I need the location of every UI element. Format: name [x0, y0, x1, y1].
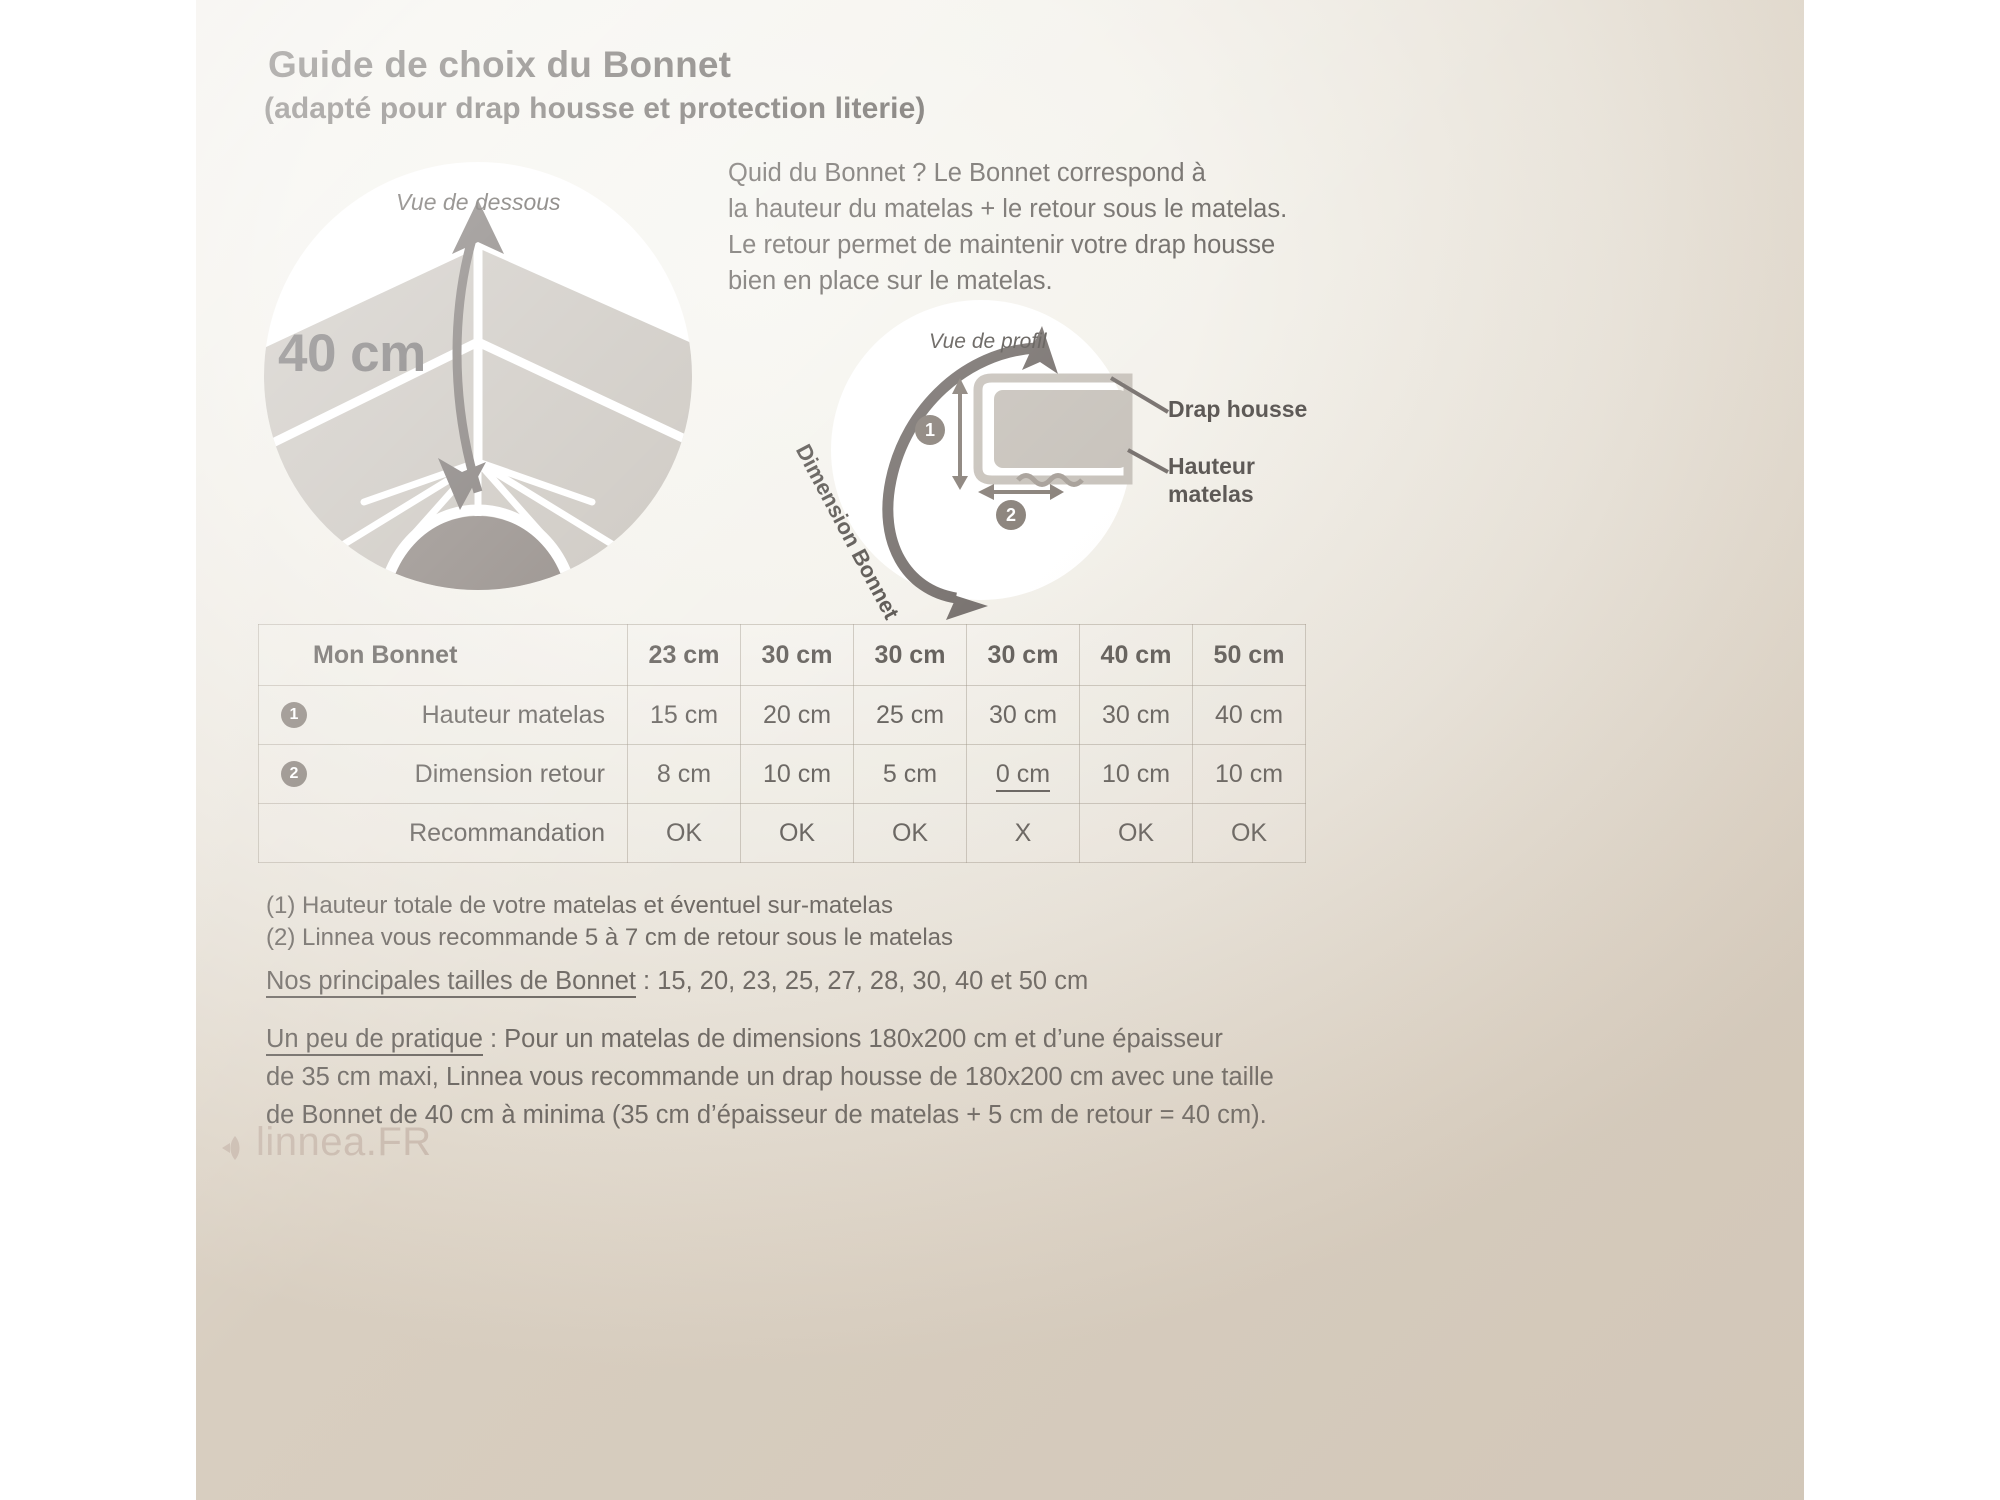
- linnea-logo-text: linnea.FR: [256, 1120, 432, 1165]
- pratique-block: Un peu de pratique : Pour un matelas de …: [266, 1020, 1506, 1134]
- callout-drap-housse: Drap housse: [1168, 395, 1307, 423]
- tailles-line: Nos principales tailles de Bonnet : 15, …: [266, 962, 1506, 1000]
- badge-2-profile: 2: [996, 500, 1026, 530]
- cell-r2-c5: OK: [1193, 804, 1306, 863]
- footnote-1: (1) Hauteur totale de votre matelas et é…: [266, 890, 1466, 922]
- retour-dimension-arrow: [978, 484, 1064, 500]
- cell-r1-c1: 10 cm: [741, 745, 854, 804]
- pratique-line-1: Un peu de pratique : Pour un matelas de …: [266, 1020, 1506, 1058]
- row-label-hauteur-matelas: 1 Hauteur matelas: [259, 686, 628, 745]
- profile-view-label: Vue de profil: [929, 330, 1047, 354]
- table-row: Recommandation OK OK OK X OK OK: [259, 804, 1306, 863]
- intro-line-1: Quid du Bonnet ? Le Bonnet correspond à: [728, 155, 1348, 191]
- table-header-cell-3: 30 cm: [854, 625, 967, 686]
- bonnet-table-wrapper: Mon Bonnet 23 cm 30 cm 30 cm 30 cm 40 cm…: [258, 624, 1306, 863]
- tailles-block: Nos principales tailles de Bonnet : 15, …: [266, 962, 1506, 1000]
- cell-r0-c2: 25 cm: [854, 686, 967, 745]
- badge-2-table: 2: [281, 761, 307, 787]
- pratique-line-2: de 35 cm maxi, Linnea vous recommande un…: [266, 1058, 1506, 1096]
- table-header-cell-0: Mon Bonnet: [259, 625, 628, 686]
- cell-r2-c2: OK: [854, 804, 967, 863]
- cell-r0-c0: 15 cm: [628, 686, 741, 745]
- cell-r2-c3-flagged: X: [967, 804, 1080, 863]
- pratique-line-1-rest: : Pour un matelas de dimensions 180x200 …: [483, 1025, 1223, 1053]
- table-head: Mon Bonnet 23 cm 30 cm 30 cm 30 cm 40 cm…: [259, 625, 1306, 686]
- bonnet-measure-value: 40 cm: [278, 323, 426, 384]
- callout-hauteur-line-2: matelas: [1168, 480, 1255, 508]
- table-header-cell-2: 30 cm: [741, 625, 854, 686]
- footnotes: (1) Hauteur totale de votre matelas et é…: [266, 890, 1466, 954]
- tailles-heading: Nos principales tailles de Bonnet: [266, 967, 636, 998]
- linnea-leaf-icon: [220, 1128, 246, 1158]
- tailles-rest: : 15, 20, 23, 25, 27, 28, 30, 40 et 50 c…: [636, 967, 1088, 995]
- row-label-text: Hauteur matelas: [422, 701, 605, 729]
- cell-r0-c5: 40 cm: [1193, 686, 1306, 745]
- intro-paragraph: Quid du Bonnet ? Le Bonnet correspond à …: [728, 155, 1348, 299]
- page-canvas: Guide de choix du Bonnet (adapté pour dr…: [0, 0, 2000, 1500]
- row-label-text: Recommandation: [409, 819, 605, 847]
- cell-r2-c0: OK: [628, 804, 741, 863]
- badge-1-table: 1: [281, 702, 307, 728]
- row-label-dimension-retour: 2 Dimension retour: [259, 745, 628, 804]
- cell-r2-c1: OK: [741, 804, 854, 863]
- table-header-row: Mon Bonnet 23 cm 30 cm 30 cm 30 cm 40 cm…: [259, 625, 1306, 686]
- intro-line-3: Le retour permet de maintenir votre drap…: [728, 227, 1348, 263]
- table-row: 1 Hauteur matelas 15 cm 20 cm 25 cm 30 c…: [259, 686, 1306, 745]
- cell-r1-c3: 0 cm: [967, 745, 1080, 804]
- row-label-text: Dimension retour: [415, 760, 605, 788]
- cell-r0-c1: 20 cm: [741, 686, 854, 745]
- cell-r0-c4: 30 cm: [1080, 686, 1193, 745]
- cell-r1-c0: 8 cm: [628, 745, 741, 804]
- mattress-height-arrow: [952, 378, 968, 490]
- cell-r1-c2: 5 cm: [854, 745, 967, 804]
- cell-r2-c4: OK: [1080, 804, 1193, 863]
- cell-r0-c3: 30 cm: [967, 686, 1080, 745]
- linnea-logo[interactable]: linnea.FR: [220, 1120, 432, 1165]
- bonnet-table: Mon Bonnet 23 cm 30 cm 30 cm 30 cm 40 cm…: [258, 624, 1306, 863]
- infographic-artboard: Guide de choix du Bonnet (adapté pour dr…: [196, 0, 1804, 1500]
- pratique-line-3: de Bonnet de 40 cm à minima (35 cm d’épa…: [266, 1096, 1506, 1134]
- callout-hauteur-line-1: Hauteur: [1168, 452, 1255, 480]
- badge-1-profile: 1: [915, 415, 945, 445]
- row-label-recommandation: Recommandation: [259, 804, 628, 863]
- table-body: 1 Hauteur matelas 15 cm 20 cm 25 cm 30 c…: [259, 686, 1306, 863]
- page-subtitle: (adapté pour drap housse et protection l…: [264, 92, 925, 126]
- callout-hauteur-matelas: Hauteur matelas: [1168, 452, 1255, 508]
- mattress-block: [994, 390, 1128, 468]
- page-title: Guide de choix du Bonnet: [268, 44, 731, 86]
- footnote-2: (2) Linnea vous recommande 5 à 7 cm de r…: [266, 922, 1466, 954]
- bottom-view-label: Vue de dessous: [396, 189, 561, 216]
- pratique-heading: Un peu de pratique: [266, 1025, 483, 1056]
- cell-r1-c4: 10 cm: [1080, 745, 1193, 804]
- cell-r1-c5: 10 cm: [1193, 745, 1306, 804]
- arc-arrow-head-bottom: [938, 590, 988, 620]
- cell-value-underlined: 0 cm: [996, 760, 1050, 792]
- table-header-cell-5: 40 cm: [1080, 625, 1193, 686]
- table-header-cell-1: 23 cm: [628, 625, 741, 686]
- intro-line-2: la hauteur du matelas + le retour sous l…: [728, 191, 1348, 227]
- table-header-cell-6: 50 cm: [1193, 625, 1306, 686]
- table-header-cell-4: 30 cm: [967, 625, 1080, 686]
- table-row: 2 Dimension retour 8 cm 10 cm 5 cm 0 cm …: [259, 745, 1306, 804]
